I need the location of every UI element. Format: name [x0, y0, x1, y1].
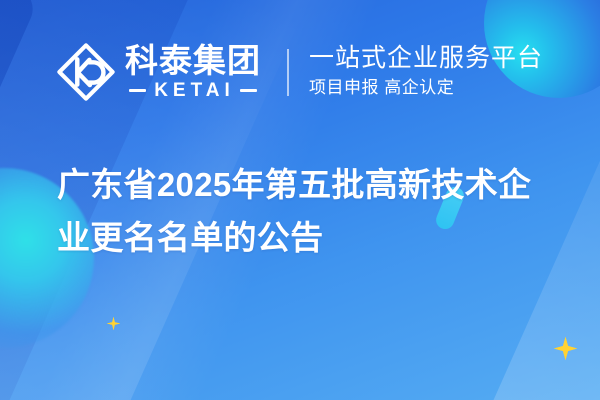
header-divider	[287, 49, 289, 96]
logo-dash-left-icon	[129, 89, 146, 92]
ketai-diamond-kd-logo-icon	[55, 41, 117, 103]
logo-wordmark: 科泰集团 KETAI	[125, 44, 261, 100]
page-title: 广东省2025年第五批高新技术企业更名名单的公告	[57, 158, 562, 265]
slogan-main-text: 一站式企业服务平台	[309, 44, 543, 74]
sparkle-icon	[107, 317, 120, 330]
diagonal-capsule	[0, 0, 40, 242]
logo-dash-right-icon	[240, 89, 257, 92]
slogan-sub-text: 项目申报 高企认定	[309, 77, 543, 100]
brand-logo[interactable]: 科泰集团 KETAI	[55, 41, 261, 103]
logo-chinese-name: 科泰集团	[125, 44, 261, 79]
sparkle-icon	[554, 337, 577, 360]
announcement-banner: 科泰集团 KETAI 一站式企业服务平台 项目申报 高企认定 广东省2025年第…	[0, 0, 600, 400]
logo-english-name: KETAI	[146, 81, 240, 100]
brand-slogan: 一站式企业服务平台 项目申报 高企认定	[309, 44, 543, 99]
banner-header: 科泰集团 KETAI 一站式企业服务平台 项目申报 高企认定	[55, 33, 543, 111]
logo-english-row: KETAI	[125, 81, 261, 100]
